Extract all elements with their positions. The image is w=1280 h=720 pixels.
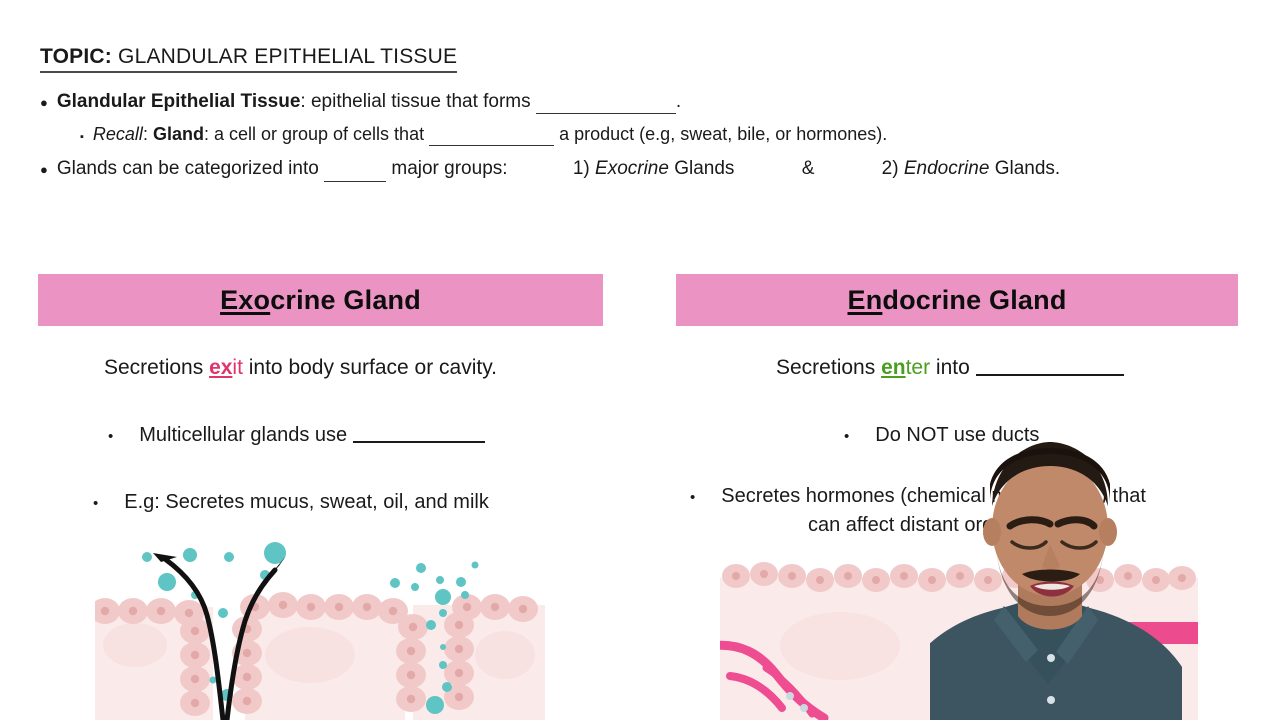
topic-value: GLANDULAR EPITHELIAL TISSUE (118, 45, 457, 68)
exocrine-column: Exocrine Gland Secretions exit into body… (38, 274, 603, 326)
topic-label: TOPIC: (40, 45, 112, 68)
outline-text-3a: Glands can be categorized into (57, 158, 319, 179)
outline-text-1a: : epithelial tissue that forms (300, 91, 530, 112)
exocrine-header: Exocrine Gland (38, 274, 603, 326)
endocrine-header: Endocrine Gland (676, 274, 1238, 326)
endocrine-lead-post: into (930, 356, 976, 379)
endocrine-lead-text: Secretions enter into (776, 356, 1124, 380)
exocrine-highlight-rest: it (232, 356, 243, 379)
outline-text-1b: . (676, 91, 681, 112)
endocrine-header-rest: docrine Gland (882, 285, 1066, 315)
exocrine-lead-post: into body surface or cavity. (243, 356, 497, 379)
exocrine-lead-text: Secretions exit into body surface or cav… (104, 356, 497, 380)
exocrine-bullet-2: • E.g: Secretes mucus, sweat, oil, and m… (93, 491, 489, 514)
outline-term-gland: Gland (153, 124, 204, 144)
bullet-dot-icon-2: • (93, 496, 98, 511)
outline-item2-rest: Glands. (995, 158, 1060, 179)
bullet-dot-icon-3: • (844, 429, 849, 444)
endocrine-header-underlined: En (847, 285, 882, 315)
outline-item1-em: Exocrine (595, 158, 669, 179)
outline-list: ● Glandular Epithelial Tissue: epithelia… (40, 90, 1240, 182)
outline-text-3b: major groups: (391, 158, 507, 179)
page-title: TOPIC: GLANDULAR EPITHELIAL TISSUE (40, 45, 457, 73)
outline-item-1: ● Glandular Epithelial Tissue: epithelia… (40, 90, 1240, 114)
fill-blank-2 (429, 145, 554, 146)
fill-blank-exocrine (353, 441, 485, 443)
fill-blank-1 (536, 113, 676, 114)
outline-item-3: ● Glands can be categorized into major g… (40, 157, 1240, 181)
exocrine-header-rest: crine Gland (270, 285, 421, 315)
exocrine-diagram-svg (95, 535, 545, 720)
lecture-slide: TOPIC: GLANDULAR EPITHELIAL TISSUE ● Gla… (0, 0, 1280, 720)
exocrine-bullet-1: • Multicellular glands use (108, 424, 485, 447)
exocrine-lead-pre: Secretions (104, 356, 209, 379)
fill-blank-3 (324, 181, 386, 182)
outline-item2-num: 2) (882, 158, 899, 179)
endocrine-highlight-rest: ter (906, 356, 931, 379)
bullet-dot-icon: • (108, 429, 113, 444)
outline-text-2b: a product (e.g, sweat, bile, or hormones… (559, 124, 887, 144)
endocrine-column: Endocrine Gland Secretions enter into • … (676, 274, 1238, 326)
bullet-square-icon: ▪ (80, 132, 84, 143)
outline-item1-num: 1) (573, 158, 590, 179)
exocrine-highlight-bold: ex (209, 356, 232, 379)
outline-term-glandular: Glandular Epithelial Tissue (57, 91, 301, 112)
bullet-dot-icon-4: • (690, 490, 695, 505)
outline-sep-2: : (143, 124, 153, 144)
bullet-disc-icon: ● (40, 96, 48, 109)
outline-term-recall: Recall (93, 124, 143, 144)
bullet-disc-icon-2: ● (40, 163, 48, 176)
exocrine-bullet-1-text: Multicellular glands use (139, 424, 347, 446)
outline-item-2: ▪ Recall: Gland: a cell or group of cell… (40, 123, 1240, 146)
endocrine-lead-pre: Secretions (776, 356, 881, 379)
exocrine-bullet-2-text: E.g: Secretes mucus, sweat, oil, and mil… (124, 491, 489, 514)
exocrine-header-underlined: Exo (220, 285, 270, 315)
outline-item1-rest: Glands (674, 158, 734, 179)
presenter-figure (930, 440, 1182, 720)
outline-amp: & (802, 158, 815, 179)
fill-blank-endocrine (976, 374, 1124, 376)
presenter-webcam-overlay (930, 440, 1182, 720)
outline-item2-em: Endocrine (904, 158, 990, 179)
exocrine-gland-illustration (95, 535, 545, 720)
outline-text-2a: : a cell or group of cells that (204, 124, 424, 144)
endocrine-highlight-bold: en (881, 356, 906, 379)
